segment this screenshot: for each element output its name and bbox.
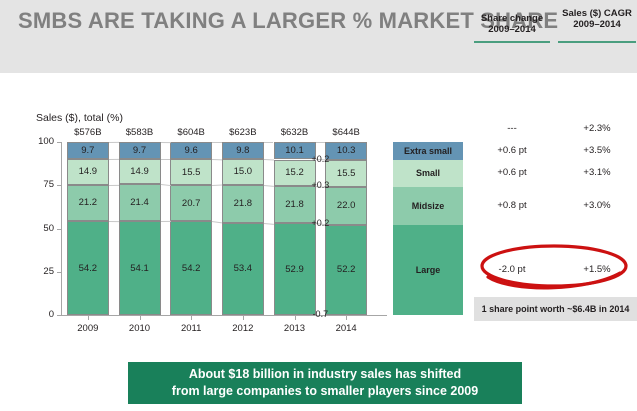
y-tick-mark bbox=[57, 315, 61, 316]
bar-segment[interactable]: 9.7 bbox=[119, 142, 161, 159]
y-tick-mark bbox=[57, 229, 61, 230]
bar-segment[interactable]: 54.2 bbox=[67, 221, 109, 315]
y-tick-mark bbox=[57, 142, 61, 143]
segment-connector-line bbox=[212, 221, 222, 223]
metric-share-change: +0.8 pt bbox=[472, 200, 552, 211]
segment-connector-line bbox=[212, 185, 222, 187]
bar-segment[interactable]: 52.2 bbox=[325, 225, 367, 315]
segment-connector-line bbox=[161, 221, 171, 222]
x-tick-mark bbox=[88, 316, 89, 320]
segment-connector-line bbox=[109, 184, 119, 185]
bar-column[interactable]: 52.921.815.210.1$632B bbox=[274, 142, 316, 315]
y-tick-label: 25 bbox=[28, 266, 54, 277]
bar-total-label: $644B bbox=[316, 127, 376, 138]
header-rule-cagr bbox=[558, 41, 636, 43]
metric-share-change: -2.0 pt bbox=[472, 264, 552, 275]
y-tick-mark bbox=[57, 272, 61, 273]
legend-item-midsize[interactable]: Midsize bbox=[393, 187, 463, 225]
bar-segment[interactable]: 21.2 bbox=[67, 185, 109, 222]
bar-segment[interactable]: 14.9 bbox=[119, 159, 161, 185]
banner-line-1: About $18 billion in industry sales has … bbox=[189, 366, 461, 383]
bar-segment[interactable]: 9.8 bbox=[222, 142, 264, 159]
bar-column[interactable]: 54.121.414.99.7$583B bbox=[119, 142, 161, 315]
segment-connector-line bbox=[160, 142, 170, 143]
legend-item-label: Small bbox=[416, 168, 440, 178]
bar-segment[interactable]: 15.0 bbox=[222, 159, 264, 185]
insight-banner: About $18 billion in industry sales has … bbox=[128, 362, 522, 404]
delta-label: +0.3 bbox=[305, 180, 335, 190]
x-tick-mark bbox=[140, 316, 141, 320]
segment-connector-line bbox=[109, 159, 119, 160]
column-header-cagr: Sales ($) CAGR 2009–2014 bbox=[558, 8, 636, 30]
legend-item-extra-small[interactable]: Extra small bbox=[393, 142, 463, 160]
metric-share-change: +0.6 pt bbox=[472, 167, 552, 178]
segment-connector-line bbox=[212, 142, 222, 143]
bar-segment[interactable]: 54.1 bbox=[119, 221, 161, 315]
legend-item-small[interactable]: Small bbox=[393, 160, 463, 187]
bar-segment[interactable]: 54.2 bbox=[170, 221, 212, 315]
bar-column[interactable]: 52.222.015.510.3$644B bbox=[325, 142, 367, 315]
bar-segment[interactable]: 15.5 bbox=[170, 159, 212, 186]
segment-connector-line bbox=[264, 185, 274, 187]
metric-share-change: --- bbox=[472, 123, 552, 134]
segment-connector-line bbox=[264, 159, 274, 161]
bar-segment[interactable]: 20.7 bbox=[170, 185, 212, 221]
metric-cagr: +3.5% bbox=[558, 145, 636, 156]
bar-column[interactable]: 54.221.214.99.7$576B bbox=[67, 142, 109, 315]
segment-connector-line bbox=[212, 159, 222, 160]
legend-item-label: Large bbox=[416, 265, 441, 275]
plot-area: 54.221.214.99.7$576B54.121.414.99.7$583B… bbox=[62, 142, 372, 315]
segment-connector-line bbox=[264, 223, 274, 225]
bar-segment[interactable]: 21.4 bbox=[119, 184, 161, 221]
bar-segment[interactable]: 9.7 bbox=[67, 142, 109, 159]
x-tick-mark bbox=[346, 316, 347, 320]
metric-share-change: +0.6 pt bbox=[472, 145, 552, 156]
column-header-share-change: Share change 2009–2014 bbox=[472, 13, 552, 35]
bar-column[interactable]: 53.421.815.09.8$623B bbox=[222, 142, 264, 315]
delta-label: -0.7 bbox=[305, 309, 335, 319]
x-tick-label: 2014 bbox=[316, 323, 376, 334]
legend-item-label: Extra small bbox=[404, 146, 452, 156]
bar-segment[interactable]: 9.6 bbox=[170, 142, 212, 159]
bar-segment[interactable]: 53.4 bbox=[222, 223, 264, 315]
y-tick-label: 100 bbox=[28, 136, 54, 147]
bar-column[interactable]: 54.220.715.59.6$604B bbox=[170, 142, 212, 315]
x-tick-mark bbox=[243, 316, 244, 320]
x-tick-mark bbox=[191, 316, 192, 320]
segment-connector-line bbox=[109, 221, 119, 222]
bar-segment[interactable]: 14.9 bbox=[67, 159, 109, 185]
y-tick-label: 0 bbox=[28, 309, 54, 320]
delta-label: +0.2 bbox=[305, 218, 335, 228]
y-tick-mark bbox=[57, 185, 61, 186]
header-rule-share bbox=[474, 41, 550, 43]
y-axis-caption: Sales ($), total (%) bbox=[36, 112, 123, 124]
title-band: SMBS ARE TAKING A LARGER % MARKET SHARE bbox=[0, 0, 637, 73]
legend-item-label: Midsize bbox=[412, 201, 445, 211]
bar-segment[interactable]: 21.8 bbox=[222, 185, 264, 223]
segment-connector-line bbox=[161, 159, 171, 160]
metric-cagr: +3.0% bbox=[558, 200, 636, 211]
legend-item-large[interactable]: Large bbox=[393, 225, 463, 315]
x-tick-mark bbox=[295, 316, 296, 320]
segment-connector-line bbox=[264, 142, 274, 143]
y-tick-label: 50 bbox=[28, 223, 54, 234]
x-axis-line bbox=[61, 315, 387, 316]
y-tick-label: 75 bbox=[28, 179, 54, 190]
banner-line-2: from large companies to smaller players … bbox=[172, 383, 478, 400]
segment-connector-line bbox=[109, 142, 119, 143]
metric-cagr: +3.1% bbox=[558, 167, 636, 178]
segment-connector-line bbox=[160, 184, 170, 186]
footnote-note: 1 share point worth ~$6.4B in 2014 bbox=[474, 297, 637, 321]
delta-label: +0.2 bbox=[305, 154, 335, 164]
legend: LargeMidsizeSmallExtra small bbox=[393, 142, 463, 315]
metric-cagr: +1.5% bbox=[558, 264, 636, 275]
bar-segment[interactable]: 52.9 bbox=[274, 223, 316, 315]
metric-cagr: +2.3% bbox=[558, 123, 636, 134]
segment-connector-line bbox=[316, 142, 326, 143]
